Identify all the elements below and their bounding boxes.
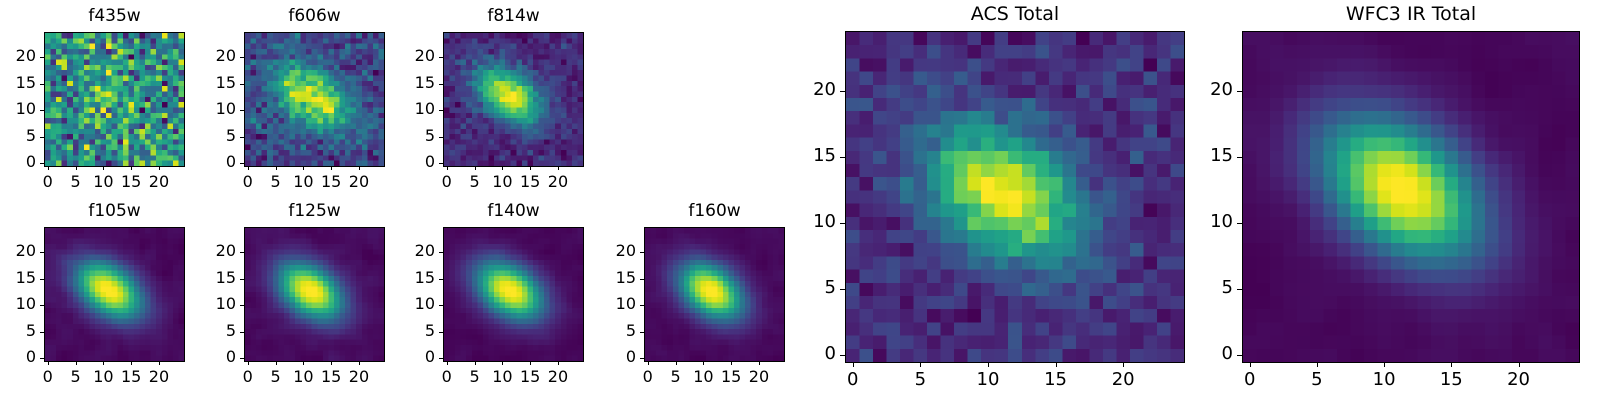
x-tick-label: 20 bbox=[1479, 371, 1559, 389]
panel-wfc3-ir-total: WFC3 IR Total0510152005101520 bbox=[0, 0, 1600, 400]
y-tick-label: 0 bbox=[1143, 345, 1233, 363]
y-tick bbox=[1237, 223, 1242, 224]
x-tick bbox=[1519, 362, 1520, 367]
x-tick bbox=[1384, 362, 1385, 367]
x-tick bbox=[1451, 362, 1452, 367]
x-tick bbox=[1317, 362, 1318, 367]
y-tick bbox=[1237, 289, 1242, 290]
panel-title: WFC3 IR Total bbox=[1042, 5, 1600, 24]
figure-canvas: f435w0510152005101520f606w05101520051015… bbox=[0, 0, 1600, 400]
x-tick bbox=[1250, 362, 1251, 367]
y-tick bbox=[1237, 91, 1242, 92]
heatmap-image bbox=[1242, 31, 1580, 363]
y-tick-label: 20 bbox=[1143, 81, 1233, 99]
y-tick bbox=[1237, 157, 1242, 158]
y-tick-label: 10 bbox=[1143, 213, 1233, 231]
y-tick bbox=[1237, 355, 1242, 356]
y-tick-label: 15 bbox=[1143, 147, 1233, 165]
y-tick-label: 5 bbox=[1143, 279, 1233, 297]
